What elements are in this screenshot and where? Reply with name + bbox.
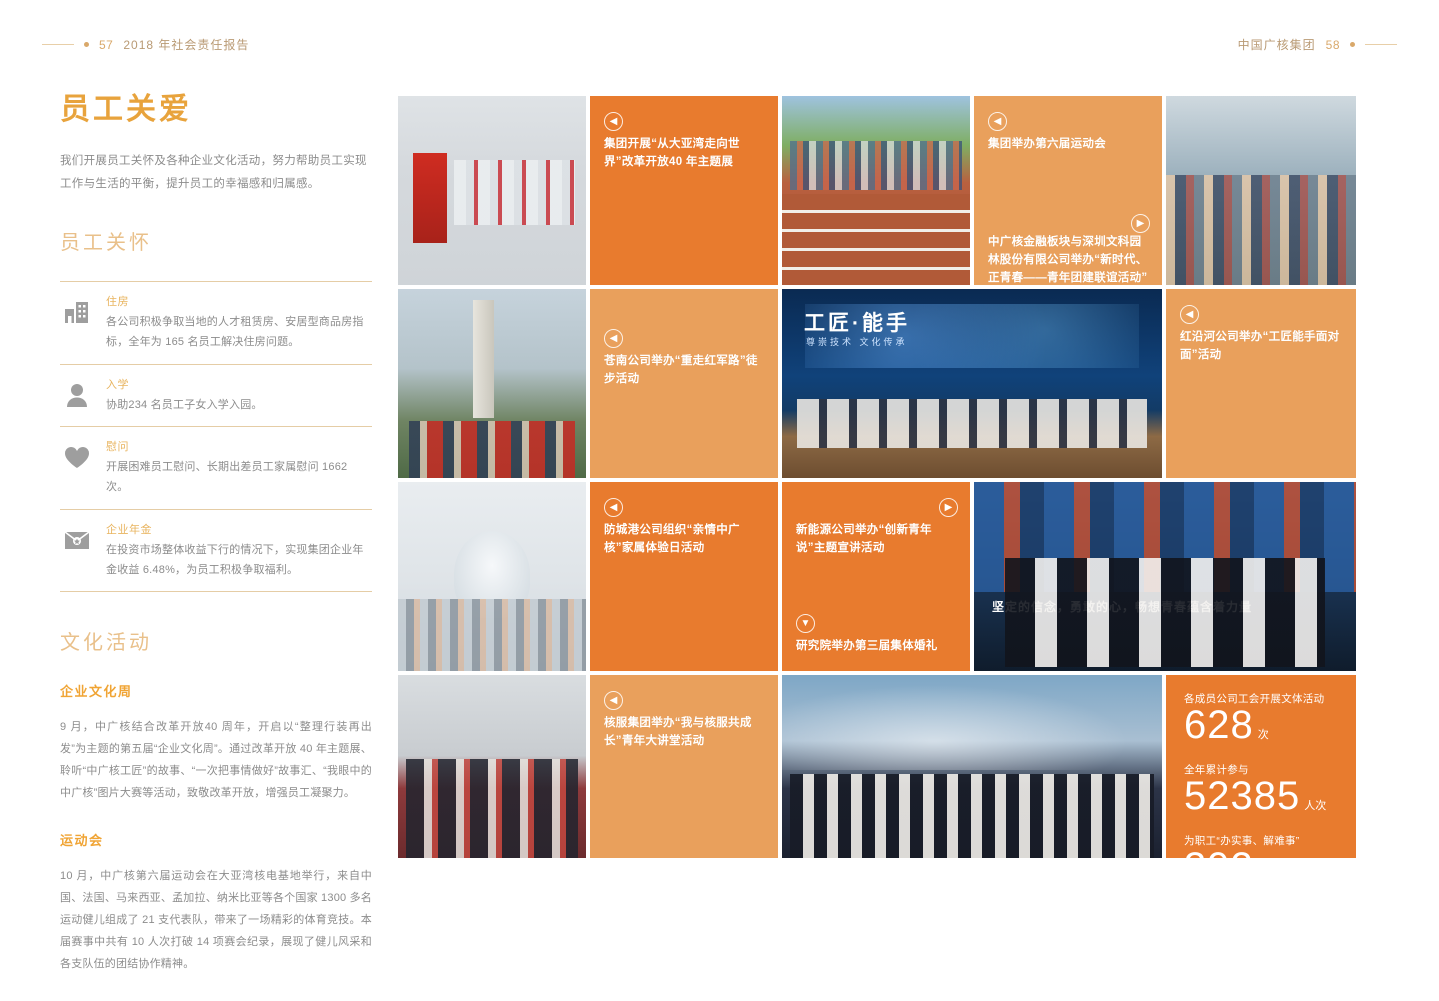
photo-grid: ◀ 集团开展“从大亚湾走向世界”改革开放40 年主题展 ◀ 集团举办第六届运动会… <box>398 96 1356 858</box>
employee-care-heading: 员工关怀 <box>60 226 372 255</box>
caption-text: 防城港公司组织“亲情中广核”家属体验日活动 <box>604 522 766 558</box>
list-item: 入学 协助234 名员工子女入学入园。 <box>60 365 372 427</box>
photo-image <box>398 675 586 858</box>
stat-total-participation: 全年累计参与 52385人次 <box>1184 762 1340 819</box>
photo-image <box>398 482 586 671</box>
photo-image <box>398 289 586 478</box>
sports-meet-title: 运动会 <box>60 830 372 849</box>
list-item: 慰问 开展困难员工慰问、长期出差员工家属慰问 1662 次。 <box>60 427 372 510</box>
photo-award-ceremony <box>398 675 586 858</box>
caption-tile-red-army-walk: ◀ 苍南公司举办“重走红军路”徒步活动 <box>590 289 778 478</box>
list-item: 企业年金 在投资市场整体收益下行的情况下，实现集团企业年金收益 6.48%，为员… <box>60 510 372 593</box>
caption-tile-youth-lecture: ◀ 核服集团举办“我与核服共成长”青年大讲堂活动 <box>590 675 778 858</box>
photo-image: 坚定的信念，勇敢的心，畅想青春蕴含着力量 <box>974 482 1356 671</box>
care-item-label: 企业年金 <box>106 521 370 537</box>
chevron-left-icon[interactable]: ◀ <box>604 112 623 131</box>
photo-family-day-hall <box>398 482 586 671</box>
photo-overlay-line: 坚定的信念，勇敢的心，畅想青春蕴含着力量 <box>992 598 1346 615</box>
photo-running-track <box>782 96 970 285</box>
photo-image: 工匠·能手 尊崇技术 文化传承 <box>782 289 1162 478</box>
report-spread: 57 2018 年社会责任报告 中国广核集团 58 员工关爱 我们开展员工关怀及… <box>0 0 1439 926</box>
care-item-label: 入学 <box>106 376 370 392</box>
care-item-text: 开展困难员工慰问、长期出差员工家属慰问 1662 次。 <box>106 457 370 498</box>
caption-tile-youth-speech-and-wedding: ▶ 新能源公司举办“创新青年说”主题宣讲活动 ▼ 研究院举办第三届集体婚礼 <box>782 482 970 671</box>
caption-text: 红沿河公司举办“工匠能手面对面”活动 <box>1180 329 1344 365</box>
report-title-left: 2018 年社会责任报告 <box>123 36 249 53</box>
building-icon <box>62 297 92 327</box>
photo-craftsman-forum: 工匠·能手 尊崇技术 文化传承 <box>782 289 1162 478</box>
statistics-panel: 各成员公司工会开展文体活动 628次 全年累计参与 52385人次 为职工“办实… <box>1166 675 1356 858</box>
chevron-left-icon[interactable]: ◀ <box>604 329 623 348</box>
caption-text: 苍南公司举办“重走红军路”徒步活动 <box>604 353 766 389</box>
stat-cultural-activities: 各成员公司工会开展文体活动 628次 <box>1184 691 1340 748</box>
list-item: 住房 各公司积极争取当地的人才租赁房、安居型商品房指标，全年为 165 名员工解… <box>60 282 372 365</box>
stat-value: 628 <box>1184 702 1254 748</box>
heart-icon <box>62 442 92 472</box>
stat-value: 52385 <box>1184 773 1300 819</box>
stat-unit: 人次 <box>1304 800 1326 812</box>
stat-practical-matters: 为职工“办实事、解难事” 392项 <box>1184 833 1340 858</box>
bullet-dot-left-icon <box>84 42 89 47</box>
photo-overlay-subtitle: 尊崇技术 文化传承 <box>806 335 908 348</box>
care-item-text: 各公司积极争取当地的人才租赁房、安居型商品房指标，全年为 165 名员工解决住房… <box>106 312 370 353</box>
running-head-left: 57 2018 年社会责任报告 <box>42 36 249 53</box>
culture-week-title: 企业文化周 <box>60 681 372 700</box>
left-content-column: 员工关爱 我们开展员工关怀及各种企业文化活动，努力帮助员工实现工作与生活的平衡，… <box>60 92 372 1001</box>
caption-text-youth-friendship: 中广核金融板块与深圳文科园林股份有限公司举办“新时代、正青春——青年团建联谊活动… <box>988 234 1150 285</box>
care-item-label: 慰问 <box>106 438 370 454</box>
running-head-right: 中国广核集团 58 <box>1238 36 1397 53</box>
care-item-text: 在投资市场整体收益下行的情况下，实现集团企业年金收益 6.48%，为员工积极争取… <box>106 540 370 581</box>
photo-exhibit-40years <box>398 96 586 285</box>
caption-text-youth-speech: 新能源公司举办“创新青年说”主题宣讲活动 <box>796 522 960 558</box>
page-title: 员工关爱 <box>60 92 372 128</box>
person-icon <box>62 380 92 410</box>
caption-tile-exhibit40: ◀ 集团开展“从大亚湾走向世界”改革开放40 年主题展 <box>590 96 778 285</box>
chevron-down-icon[interactable]: ▼ <box>796 614 815 633</box>
bullet-dot-right-icon <box>1350 42 1355 47</box>
chevron-right-icon[interactable]: ▶ <box>939 498 958 517</box>
chevron-left-icon[interactable]: ◀ <box>988 112 1007 131</box>
care-item-label: 住房 <box>106 293 370 309</box>
envelope-gift-icon <box>62 525 92 555</box>
rule-right <box>1365 44 1397 45</box>
photo-image <box>398 96 586 285</box>
caption-text: 核服集团举办“我与核服共成长”青年大讲堂活动 <box>604 715 766 751</box>
caption-text-group-wedding: 研究院举办第三届集体婚礼 <box>796 638 958 656</box>
page-number-right: 58 <box>1326 38 1340 52</box>
chevron-right-icon[interactable]: ▶ <box>1131 214 1150 233</box>
chevron-left-icon[interactable]: ◀ <box>604 498 623 517</box>
report-title-right: 中国广核集团 <box>1238 36 1316 53</box>
caption-text-sports-meet: 集团举办第六届运动会 <box>988 136 1150 154</box>
page-number-left: 57 <box>99 38 113 52</box>
care-item-text: 协助234 名员工子女入学入园。 <box>106 395 370 415</box>
caption-tile-sports-and-youth: ◀ 集团举办第六届运动会 ▶ 中广核金融板块与深圳文科园林股份有限公司举办“新时… <box>974 96 1162 285</box>
photo-youth-concert: 坚定的信念，勇敢的心，畅想青春蕴含着力量 <box>974 482 1356 671</box>
photo-image <box>1166 96 1356 285</box>
photo-monument-red-flag <box>398 289 586 478</box>
photo-overlay-title: 工匠·能手 <box>804 307 910 337</box>
caption-text: 集团开展“从大亚湾走向世界”改革开放40 年主题展 <box>604 136 766 172</box>
chevron-left-icon[interactable]: ◀ <box>1180 305 1199 324</box>
caption-tile-family-day: ◀ 防城港公司组织“亲情中广核”家属体验日活动 <box>590 482 778 671</box>
chevron-left-icon[interactable]: ◀ <box>604 691 623 710</box>
stat-unit: 次 <box>1258 729 1269 741</box>
caption-tile-craftsman-face: ◀ 红沿河公司举办“工匠能手面对面”活动 <box>1166 289 1356 478</box>
rule-left <box>42 44 74 45</box>
culture-week-text: 9 月，中广核结合改革开放40 周年，开启以“整理行装再出发”为主题的第五届“企… <box>60 716 372 804</box>
photo-group-portrait <box>1166 96 1356 285</box>
photo-image <box>782 96 970 285</box>
photo-group-wedding <box>782 675 1162 858</box>
lead-paragraph: 我们开展员工关怀及各种企业文化活动，努力帮助员工实现工作与生活的平衡，提升员工的… <box>60 150 372 196</box>
sports-meet-text: 10 月，中广核第六届运动会在大亚湾核电基地举行，来自中国、法国、马来西亚、孟加… <box>60 865 372 975</box>
culture-activities-heading: 文化活动 <box>60 626 372 655</box>
employee-care-list: 住房 各公司积极争取当地的人才租赁房、安居型商品房指标，全年为 165 名员工解… <box>60 281 372 592</box>
stat-value: 392 <box>1184 844 1254 858</box>
photo-image <box>782 675 1162 858</box>
